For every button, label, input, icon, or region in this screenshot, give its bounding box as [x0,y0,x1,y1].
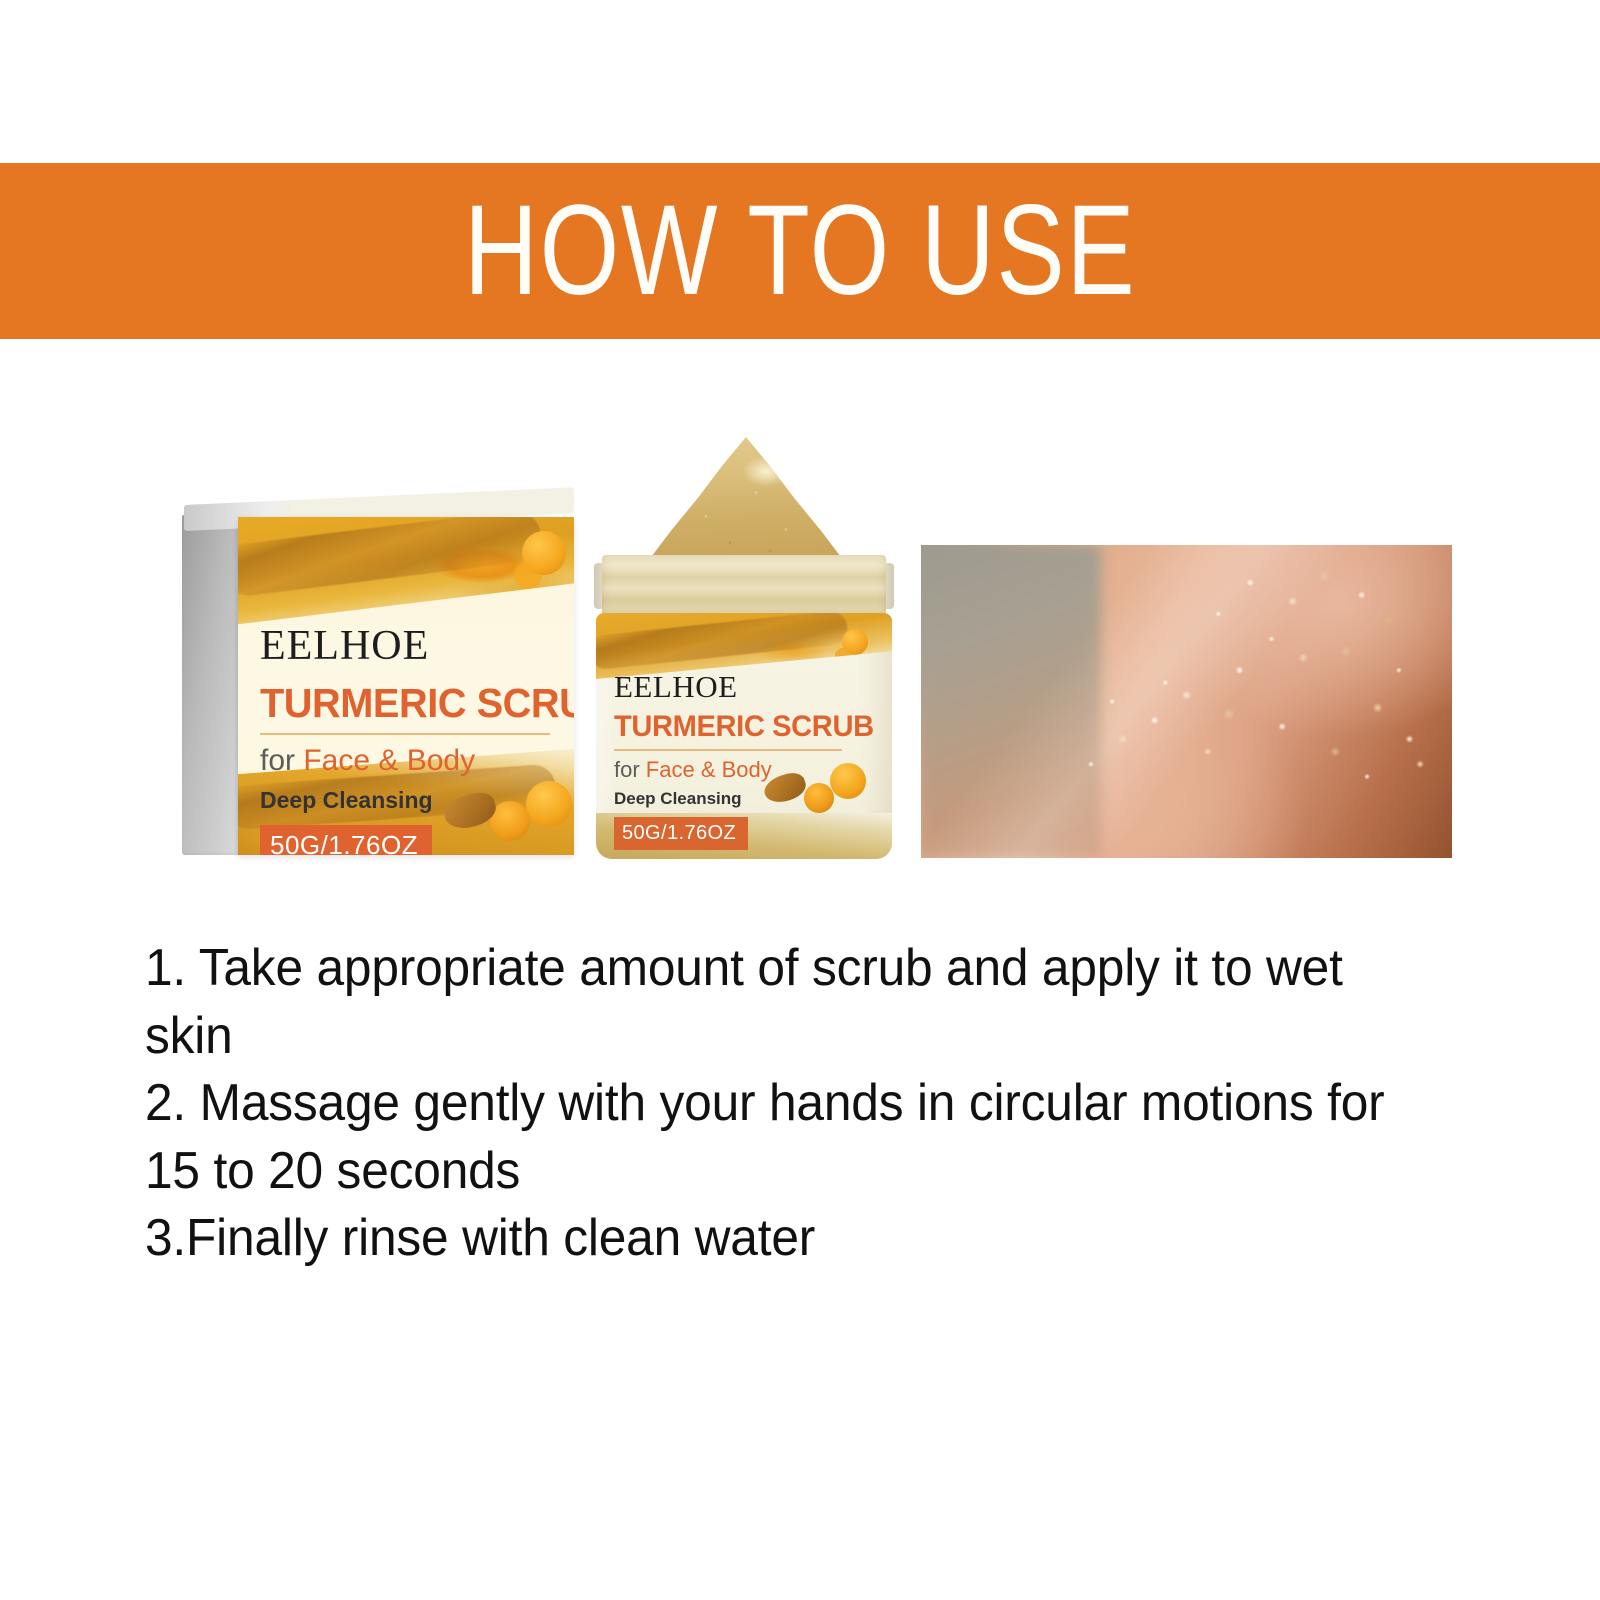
usage-instructions-list: 1. Take appropriate amount of scrub and … [145,935,1465,1273]
box-subtitle: for Face & Body [260,746,560,776]
jar-subtitle-prefix: for [614,757,646,782]
how-to-use-banner: HOW TO USE [0,163,1600,339]
instruction-step: 1. Take appropriate amount of scrub and … [145,935,1406,1070]
jar-product-name: TURMERIC SCRUB [614,712,845,742]
box-product-name: TURMERIC SCRUB [260,683,551,724]
box-tagline: Deep Cleansing [260,789,560,812]
jar-tagline: Deep Cleansing [614,790,852,807]
jar-size-badge: 50G/1.76OZ [614,817,748,850]
instruction-step: 2. Massage gently with your hands in cir… [145,1070,1406,1205]
box-subtitle-prefix: for [260,744,303,777]
scrub-on-skin-photo [921,545,1452,858]
jar-brand-name: EELHOE [614,671,852,702]
box-divider-rule [260,733,550,735]
jar-subtitle-highlight: Face & Body [646,757,772,782]
jar-divider-rule [614,749,842,751]
jar-threaded-neck [602,555,886,617]
box-subtitle-highlight: Face & Body [303,744,475,777]
skin-highlight-sheen [921,545,1452,858]
product-jar-image: EELHOE TURMERIC SCRUB for Face & Body De… [594,437,894,859]
box-size-badge: 50G/1.76OZ [260,825,432,855]
instruction-step: 3.Finally rinse with clean water [145,1205,1406,1273]
jar-label-text: EELHOE TURMERIC SCRUB for Face & Body De… [614,671,852,850]
turmeric-powder-mound [646,437,846,569]
jar-body: EELHOE TURMERIC SCRUB for Face & Body De… [596,613,892,859]
product-box-image: EELHOE TURMERIC SCRUB for Face & Body De… [182,497,574,859]
box-side-panel [182,515,240,855]
box-brand-name: EELHOE [260,625,560,667]
jar-subtitle: for Face & Body [614,759,852,781]
box-label-text: EELHOE TURMERIC SCRUB for Face & Body De… [260,625,560,855]
turmeric-artwork-top [238,517,574,625]
page-title: HOW TO USE [464,187,1136,315]
box-front-panel: EELHOE TURMERIC SCRUB for Face & Body De… [238,517,574,855]
